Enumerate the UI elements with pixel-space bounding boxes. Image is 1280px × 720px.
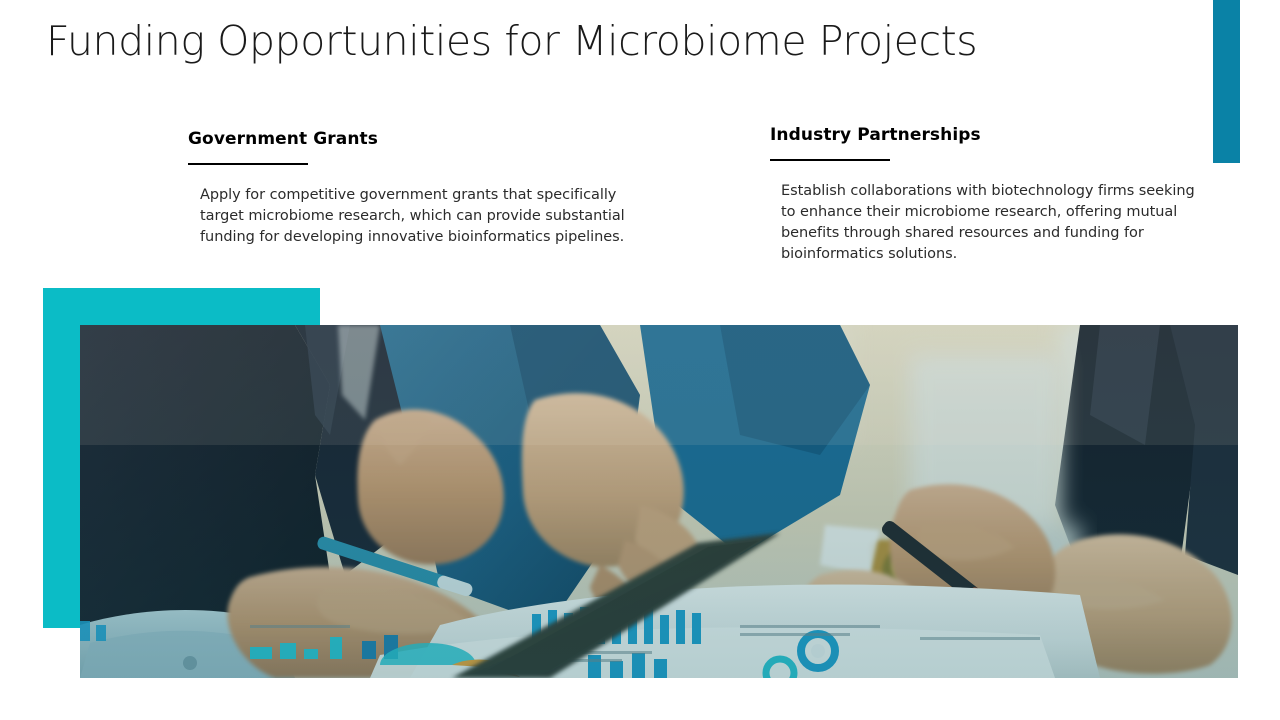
photo-business-meeting xyxy=(80,325,1238,678)
column-industry-partnerships: Industry Partnerships Establish collabor… xyxy=(770,124,1210,265)
accent-bar-top-right xyxy=(1213,0,1240,163)
column-government-grants: Government Grants Apply for competitive … xyxy=(188,128,658,248)
slide: Funding Opportunities for Microbiome Pro… xyxy=(0,0,1280,720)
column-body-text: Apply for competitive government grants … xyxy=(200,185,655,248)
photo-illustration xyxy=(80,325,1238,678)
page-title: Funding Opportunities for Microbiome Pro… xyxy=(46,14,1166,68)
column-body-text: Establish collaborations with biotechnol… xyxy=(781,181,1206,265)
column-heading: Industry Partnerships xyxy=(770,124,1210,146)
heading-underline xyxy=(188,163,308,165)
heading-underline xyxy=(770,159,890,161)
column-heading: Government Grants xyxy=(188,128,658,150)
